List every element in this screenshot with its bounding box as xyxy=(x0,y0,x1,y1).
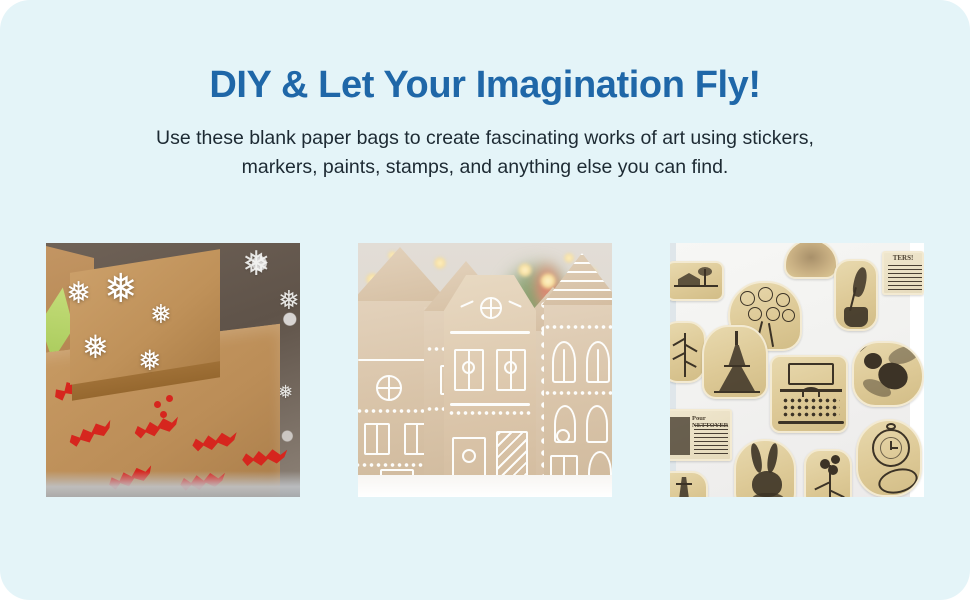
tissue-snowflake: ❅ xyxy=(278,383,293,401)
paper-snowflake: ❅ xyxy=(66,279,91,309)
paper-bag-house-front xyxy=(444,275,536,497)
sticker-lighthouse xyxy=(670,471,708,497)
white-table-surface xyxy=(358,475,612,497)
paper-bag-house-right xyxy=(544,301,612,497)
sticker-flower-stem xyxy=(804,449,852,497)
sticker-vintage-advert-card: Pour NETTOYER xyxy=(670,409,732,461)
gallery-photo-vintage-stickers[interactable]: TERS! xyxy=(670,243,924,497)
sticker-bee xyxy=(852,341,924,407)
holly-berry-stamp xyxy=(160,411,167,418)
image-gallery: ❅❅❅❅❅❅ ❅❅❅❅❅ xyxy=(46,243,924,497)
gallery-photo-kraft-gift-boxes[interactable]: ❅❅❅❅❅❅ ❅❅❅❅❅ xyxy=(46,243,300,497)
tissue-snowflake: ❅ xyxy=(242,247,271,281)
holly-berry-stamp xyxy=(154,401,161,408)
sticker-cottage-scene xyxy=(670,261,724,301)
subtitle-line-2: markers, paints, stamps, and anything el… xyxy=(0,153,970,181)
sticker-pocket-watch xyxy=(856,419,922,497)
paper-snowflake: ❅ xyxy=(150,301,172,327)
bokeh-light xyxy=(564,253,574,263)
sticker-newsprint-clipping: TERS! xyxy=(882,251,924,295)
sticker-quill-inkwell xyxy=(834,259,878,331)
clipping-title: TERS! xyxy=(884,255,922,263)
bokeh-light xyxy=(540,273,556,289)
sticker-wreath xyxy=(784,243,838,279)
paper-snowflake: ❅ xyxy=(104,269,138,309)
sticker-botanical-sprig xyxy=(670,321,706,383)
subtitle-line-1: Use these blank paper bags to create fas… xyxy=(0,124,970,152)
sticker-typewriter xyxy=(770,355,848,433)
header: DIY & Let Your Imagination Fly! Use thes… xyxy=(0,62,970,181)
bokeh-light xyxy=(434,257,446,269)
sticker-rabbit xyxy=(734,439,796,497)
bokeh-light xyxy=(518,263,532,277)
paper-snowflake: ❅ xyxy=(82,331,109,363)
sticker-eiffel-tower xyxy=(702,325,768,399)
promo-banner: DIY & Let Your Imagination Fly! Use thes… xyxy=(0,0,970,600)
gallery-photo-gingerbread-bags[interactable] xyxy=(358,243,612,497)
silver-glitter-surface xyxy=(46,471,300,497)
page-title: DIY & Let Your Imagination Fly! xyxy=(0,62,970,108)
subtitle: Use these blank paper bags to create fas… xyxy=(0,124,970,181)
paper-snowflake: ❅ xyxy=(138,347,161,375)
tissue-snowflake: ❅ xyxy=(278,287,300,313)
holly-berry-stamp xyxy=(166,395,173,402)
